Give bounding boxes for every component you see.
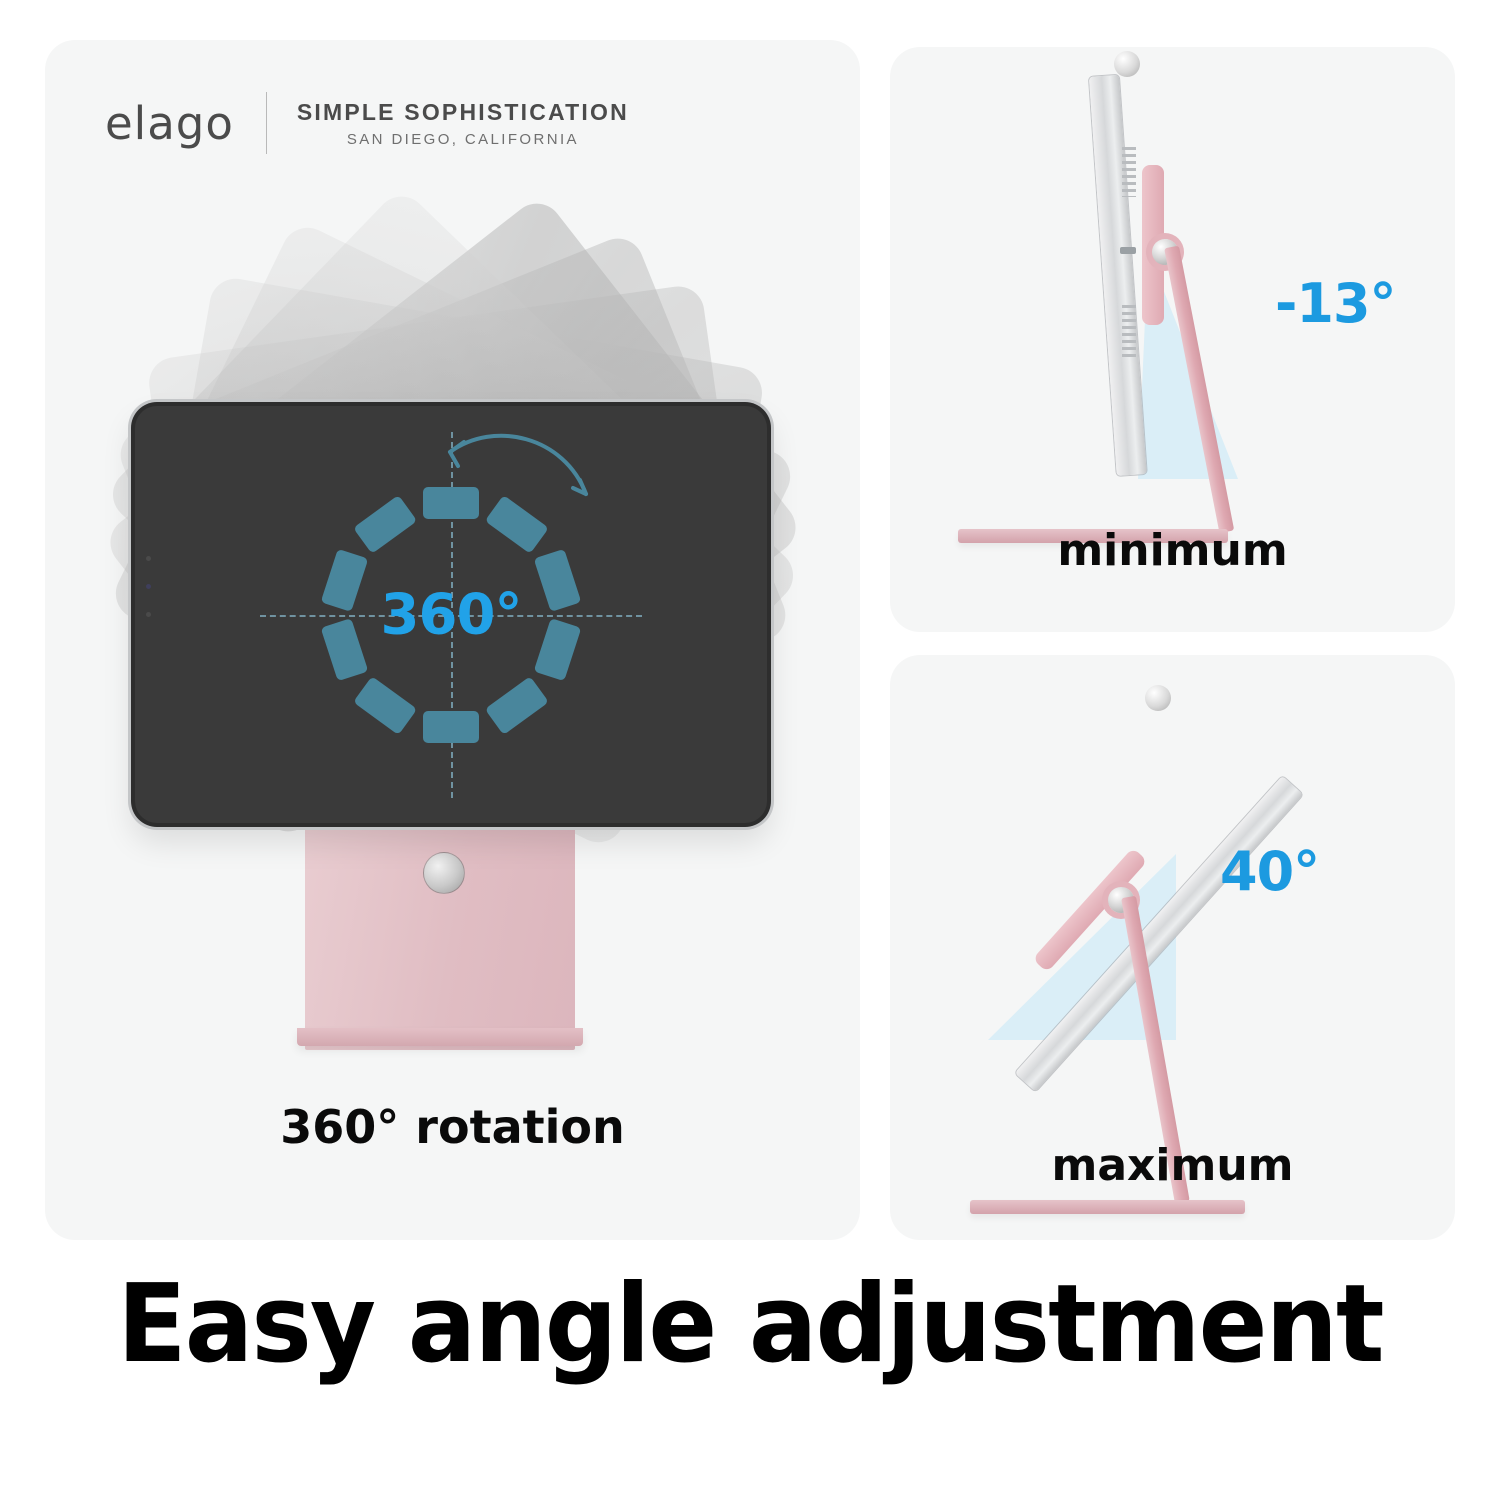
camera-icon — [146, 556, 151, 561]
rotation-hinge — [423, 852, 465, 894]
stand-column — [305, 800, 575, 1050]
rotation-scene: 360° — [45, 40, 860, 1110]
page-headline: Easy angle adjustment — [45, 1262, 1455, 1387]
speaker-grill — [1122, 305, 1136, 357]
usb-port — [1120, 247, 1136, 254]
sensor-icon — [146, 612, 151, 617]
minimum-caption: minimum — [890, 525, 1455, 576]
minimum-angle-value: -13° — [1275, 272, 1396, 335]
rotation-caption: 360° rotation — [45, 1100, 860, 1154]
sensor-icon — [146, 584, 151, 589]
stylus-tip — [1145, 685, 1171, 711]
rotation-arrow-icon — [434, 422, 604, 532]
speaker-grill — [1122, 147, 1136, 197]
rotation-dial: 360° — [306, 470, 596, 760]
tablet-device: 360° — [131, 402, 771, 827]
dial-tick — [485, 676, 549, 735]
maximum-angle-value: 40° — [1220, 840, 1319, 903]
dial-tick — [353, 676, 417, 735]
stand-base-plate — [970, 1200, 1245, 1214]
maximum-caption: maximum — [890, 1140, 1455, 1191]
stylus-tip — [1114, 51, 1140, 77]
dial-label: 360° — [306, 582, 596, 647]
dial-tick — [353, 494, 417, 553]
stand-base — [297, 1028, 583, 1046]
tablet-screen: 360° — [135, 406, 767, 823]
dial-tick — [423, 711, 479, 743]
